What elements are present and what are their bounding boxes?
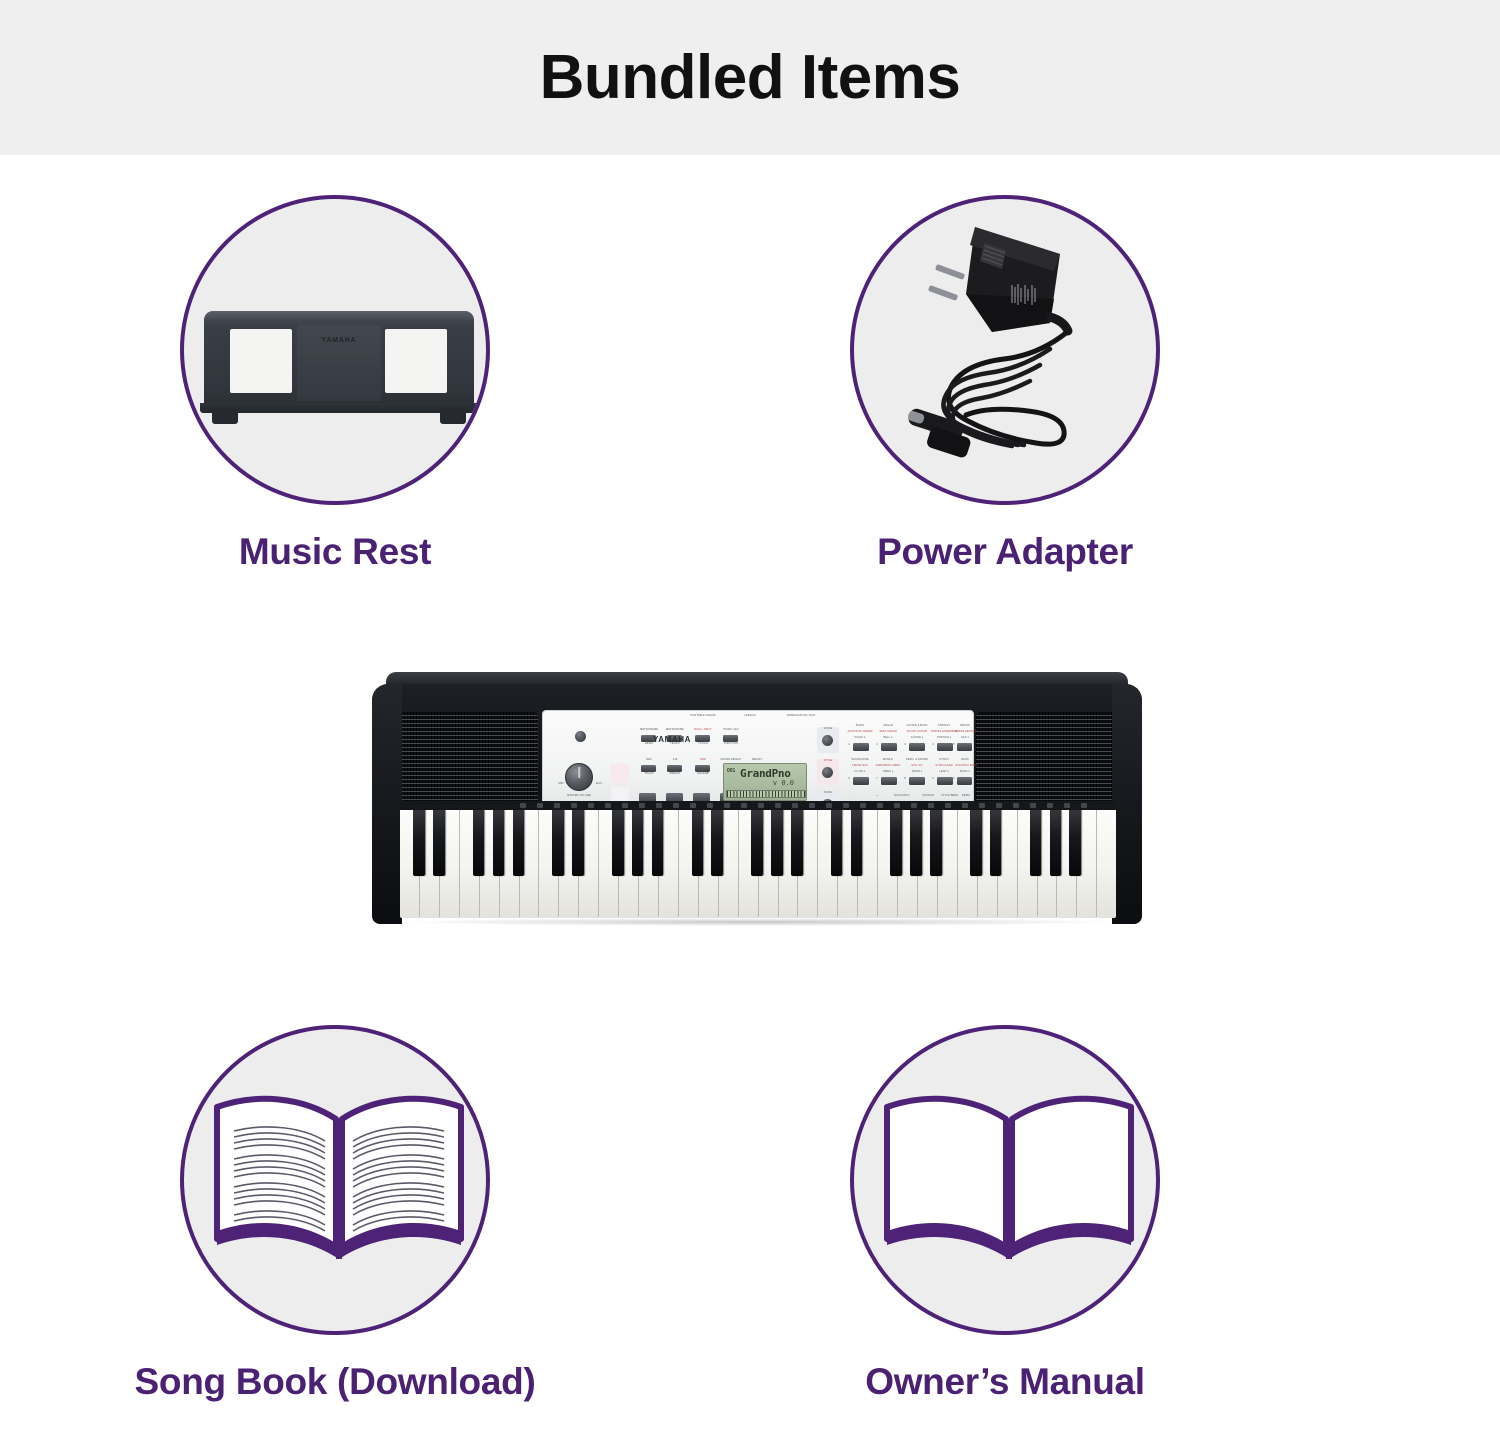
panel-yamaha-logo: YAMAHA <box>653 735 691 744</box>
keybed-tick <box>826 803 832 808</box>
keybed-label-strip <box>400 801 1116 810</box>
btn-ab-repeat[interactable] <box>667 765 682 772</box>
micro-label-portable-grand: PORTABLE GRAND <box>683 715 723 718</box>
keybed-tick <box>1013 803 1019 808</box>
voice-btn-1[interactable] <box>853 743 869 751</box>
voice-cat-7-top: WORLD <box>873 759 903 762</box>
black-key[interactable] <box>692 810 704 876</box>
black-key[interactable] <box>771 810 783 876</box>
mode-pad-voice[interactable]: VOICE <box>817 727 839 753</box>
btn-rec[interactable] <box>641 765 656 772</box>
voice-btn-0[interactable] <box>957 777 972 785</box>
voice-cat-6-bottom: FLUTE 1 <box>845 771 875 774</box>
keyboard-endcap-right <box>1112 684 1142 924</box>
power-knob[interactable] <box>575 731 586 742</box>
black-key[interactable] <box>652 810 664 876</box>
keybed-tick <box>690 803 696 808</box>
voice-index-2: 2 <box>874 744 880 747</box>
black-key[interactable] <box>851 810 863 876</box>
voice-index-8: 8 <box>902 778 908 781</box>
bundled-items-page: Bundled Items YAMAHA Music Rest <box>0 0 1500 1430</box>
keybed-tick <box>707 803 713 808</box>
keybed-tick <box>996 803 1002 808</box>
voice-cat-7-bottom: VIBES 1 <box>873 771 903 774</box>
mode-style-knob[interactable] <box>822 767 833 778</box>
btn-dsp-bottom-label: REVERB <box>691 773 715 776</box>
keybed-tick <box>860 803 866 808</box>
voice-cat-0-bottom: BASS 1 <box>955 771 975 774</box>
btn-dual-split-round-label: DUAL/SPLIT <box>889 795 915 798</box>
black-keys-group[interactable] <box>400 810 1116 918</box>
owners-manual-label: Owner’s Manual <box>795 1361 1215 1403</box>
keybed-tick <box>928 803 934 808</box>
mode-voice-knob[interactable] <box>822 735 833 746</box>
black-key[interactable] <box>433 810 445 876</box>
voice-cat-6-top: SAXOPHONE <box>845 759 875 762</box>
voice-btn-7[interactable] <box>881 777 897 785</box>
power-adapter-circle <box>850 195 1160 505</box>
keybed-tick <box>911 803 917 808</box>
black-key[interactable] <box>612 810 624 876</box>
power-adapter-label: Power Adapter <box>795 531 1215 573</box>
black-key[interactable] <box>513 810 525 876</box>
music-rest-top-rail <box>204 311 474 322</box>
mode-voice-label: VOICE <box>817 728 839 731</box>
bundled-item-music-rest: YAMAHA Music Rest <box>125 195 545 573</box>
bundled-item-owners-manual: Owner’s Manual <box>795 1025 1215 1403</box>
keybed-tick <box>571 803 577 808</box>
voice-index-9: 9 <box>930 778 936 781</box>
voice-cat-2-top: ORGAN <box>873 725 903 728</box>
song-book-circle <box>180 1025 490 1335</box>
keybed-tick <box>809 803 815 808</box>
keybed-tick <box>843 803 849 808</box>
keybed-tick <box>962 803 968 808</box>
pad-portable-grand[interactable] <box>611 763 629 783</box>
keybed-tick <box>775 803 781 808</box>
keybed-tick <box>724 803 730 808</box>
music-rest-illustration: YAMAHA <box>196 307 482 425</box>
btn-dsp-reverb[interactable] <box>695 765 710 772</box>
voice-index-6: 6 <box>846 778 852 781</box>
keybed-tick <box>656 803 662 808</box>
speaker-grille-left <box>386 712 538 804</box>
keybed <box>400 810 1116 918</box>
black-key[interactable] <box>1050 810 1062 876</box>
voice-btn-5[interactable] <box>957 743 972 751</box>
open-book-blank-icon <box>882 1089 1136 1279</box>
music-rest-circle: YAMAHA <box>180 195 490 505</box>
music-rest-foot-right <box>440 411 466 424</box>
keybed-tick <box>588 803 594 808</box>
keybed-tick <box>1047 803 1053 808</box>
btn-dual-split-top-label: DUAL / SPLIT <box>691 729 715 732</box>
keybed-tick <box>554 803 560 808</box>
black-key[interactable] <box>711 810 723 876</box>
lcd-keyboard-graphic <box>726 790 806 798</box>
micro-label-lesson: LESSON <box>735 715 765 718</box>
btn-ab-repeat-top-label: A-B <box>663 759 687 762</box>
keybed-tick <box>877 803 883 808</box>
owners-manual-circle <box>850 1025 1160 1335</box>
voice-cat-1-sub: ACOUSTIC GRAND <box>845 731 875 734</box>
btn-regist-top-label: REGIST <box>745 759 769 762</box>
page-header: Bundled Items <box>0 0 1500 155</box>
music-rest-label: Music Rest <box>125 531 545 573</box>
keybed-tick <box>741 803 747 808</box>
keybed-tick <box>520 803 526 808</box>
btn-function-bottom-label: FUNCTION <box>719 743 743 746</box>
lcd-voice-tag: 001 <box>727 768 735 774</box>
volume-min-label: MIN <box>555 783 567 786</box>
btn-function[interactable] <box>723 735 738 742</box>
black-key[interactable] <box>572 810 584 876</box>
btn-dual-split[interactable] <box>695 735 710 742</box>
black-key[interactable] <box>791 810 803 876</box>
voice-btn-6[interactable] <box>853 777 869 785</box>
music-rest-window-right <box>385 329 447 393</box>
btn-dsp-top-label: DSP <box>691 759 715 762</box>
voice-cat-6-sub: TENOR SAX <box>845 765 875 768</box>
black-key[interactable] <box>1030 810 1042 876</box>
voice-index-1: 1 <box>846 744 852 747</box>
voice-btn-3[interactable] <box>909 743 925 751</box>
black-key[interactable] <box>831 810 843 876</box>
open-book-lined-icon <box>212 1089 466 1279</box>
black-key[interactable] <box>930 810 942 876</box>
speaker-grille-right <box>976 712 1128 804</box>
voice-cat-5-top: BRASS <box>955 725 975 728</box>
black-key[interactable] <box>990 810 1002 876</box>
voice-cat-5-bottom: SAX 1 <box>955 737 975 740</box>
micro-label-arpeggiator: ARPEGGIATOR / DUO <box>771 715 831 718</box>
btn-demo-top-label: METRONOME <box>638 729 660 732</box>
song-book-label: Song Book (Download) <box>125 1361 545 1403</box>
black-key[interactable] <box>910 810 922 876</box>
black-key[interactable] <box>1069 810 1081 876</box>
keybed-tick <box>945 803 951 808</box>
btn-metronome-top-label: METRONOME <box>663 729 687 732</box>
voice-cat-1-bottom: PIANO 1 <box>845 737 875 740</box>
voice-cat-0-sub: ACOUSTIC BASS <box>955 765 975 768</box>
page-title: Bundled Items <box>540 42 961 113</box>
lcd-value: v 0.0 <box>773 779 794 787</box>
master-volume-label: MASTER VOLUME <box>557 795 601 798</box>
power-adapter-illustration <box>854 199 1160 505</box>
btn-ab-repeat-bottom-label: REPEAT <box>663 773 687 776</box>
btn-demo-round-label: DEMO <box>955 795 977 798</box>
voice-btn-8[interactable] <box>909 777 925 785</box>
voice-btn-2[interactable] <box>881 743 897 751</box>
btn-plus-label: + <box>869 795 885 798</box>
btn-function-top-label: PIANO / EQ <box>719 729 743 732</box>
btn-sound-effect-top-label: SOUND EFFECT <box>719 759 743 762</box>
mode-song-label: SONG <box>817 792 839 795</box>
keybed-tick <box>605 803 611 808</box>
keybed-tick <box>894 803 900 808</box>
music-rest-window-left <box>230 329 292 393</box>
black-key[interactable] <box>632 810 644 876</box>
volume-max-label: MAX <box>593 783 605 786</box>
black-key[interactable] <box>473 810 485 876</box>
black-key[interactable] <box>493 810 505 876</box>
black-key[interactable] <box>890 810 902 876</box>
keybed-tick <box>979 803 985 808</box>
plug-prongs <box>928 264 965 301</box>
music-rest-foot-left <box>212 411 238 424</box>
voice-index-7: 7 <box>874 778 880 781</box>
lcd-display: 001 GrandPno v 0.0 <box>723 763 807 801</box>
btn-rec-top-label: REC <box>638 759 660 762</box>
mode-pad-style[interactable]: STYLE <box>817 759 839 785</box>
voice-index-4: 4 <box>930 744 936 747</box>
keyboard-shadow <box>402 918 1114 926</box>
voice-index-5: 5 <box>951 744 957 747</box>
keyboard-illustration: PORTABLE GRAND LESSON ARPEGGIATOR / DUO … <box>372 672 1142 930</box>
keybed-tick <box>1081 803 1087 808</box>
master-volume-knob[interactable] <box>565 763 593 791</box>
music-rest-base <box>200 403 478 413</box>
voice-index-0: 0 <box>951 778 957 781</box>
mode-style-label: STYLE <box>817 760 839 763</box>
voice-cat-0-top: BASS <box>955 759 975 762</box>
keybed-tick <box>537 803 543 808</box>
voice-index-3: 3 <box>902 744 908 747</box>
bundled-item-power-adapter: Power Adapter <box>795 195 1215 573</box>
black-key[interactable] <box>751 810 763 876</box>
keybed-tick <box>1030 803 1036 808</box>
keybed-tick <box>622 803 628 808</box>
voice-cat-5-sub: BRASS SECTION <box>955 731 975 734</box>
keybed-tick <box>639 803 645 808</box>
voice-cat-2-sub: JAZZ ORGAN <box>873 731 903 734</box>
keybed-tick <box>792 803 798 808</box>
voice-cat-1-top: PIANO <box>845 725 875 728</box>
black-key[interactable] <box>970 810 982 876</box>
btn-rec-bottom-label: TRACK <box>638 773 660 776</box>
voice-cat-2-bottom: BELL 1 <box>873 737 903 740</box>
btn-dual-split-bottom-label: TOUCH <box>691 743 715 746</box>
keybed-tick <box>1064 803 1070 808</box>
btn-minus-label: - <box>845 795 861 798</box>
black-key[interactable] <box>552 810 564 876</box>
keybed-tick <box>673 803 679 808</box>
black-key[interactable] <box>413 810 425 876</box>
keybed-tick <box>758 803 764 808</box>
keyboard-endcap-left <box>372 684 402 924</box>
bundled-item-song-book: Song Book (Download) <box>125 1025 545 1403</box>
yamaha-logo-text: YAMAHA <box>297 337 381 344</box>
voice-cat-7-sub: CHROMATIC PERC <box>873 765 903 768</box>
